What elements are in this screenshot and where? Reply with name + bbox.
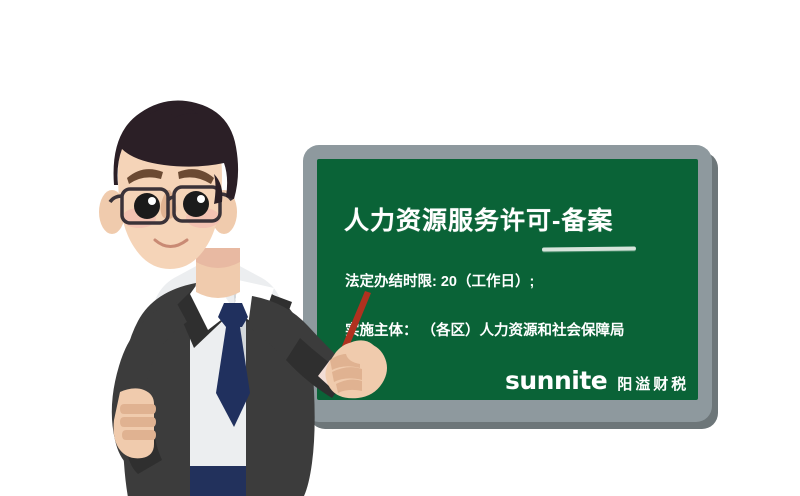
glasses-icon (110, 187, 232, 223)
shirt-collar-left (190, 280, 234, 330)
lapel-left (176, 282, 234, 348)
blackboard-surface: 人力资源服务许可-备案 法定办结时限: 20（工作日）; 实施主体： （各区）人… (317, 159, 698, 400)
arm-left-sleeve (112, 300, 187, 466)
trousers (152, 452, 276, 496)
nose (161, 190, 177, 219)
board-line-processing-time: 法定办结时限: 20（工作日）; (345, 270, 534, 291)
blackboard-frame: 人力资源服务许可-备案 法定办结时限: 20（工作日）; 实施主体： （各区）人… (303, 145, 712, 422)
title-underline-chalk-stroke (542, 247, 636, 252)
hand-on-hip (114, 388, 156, 458)
shirt-shadow (232, 280, 282, 466)
hair (114, 101, 239, 204)
blush-right (186, 208, 220, 228)
shirt (150, 264, 286, 466)
brand-logo-mark: sunnite (505, 366, 607, 395)
board-title: 人力资源服务许可-备案 (344, 201, 613, 237)
tie-knot (218, 303, 248, 327)
eyebrows (127, 169, 214, 184)
slide-canvas: 人力资源服务许可-备案 法定办结时限: 20（工作日）; 实施主体： （各区）人… (0, 0, 800, 496)
shirt-collar-right (234, 280, 274, 328)
neck (196, 248, 240, 298)
face (118, 113, 222, 269)
jacket-left-panel (121, 283, 196, 496)
arm-left-sleeve-shade (125, 400, 162, 474)
brand-logo: sunnite 阳溢财税 (505, 366, 689, 395)
eyes (134, 191, 209, 219)
mouth (155, 240, 187, 247)
tie-body (216, 327, 250, 427)
blush-left (122, 208, 156, 228)
lapel-right (234, 282, 292, 346)
brand-logo-chinese: 阳溢财税 (617, 373, 689, 394)
ears (99, 190, 237, 234)
board-line-authority: 实施主体： （各区）人力资源和社会保障局 (345, 319, 625, 340)
